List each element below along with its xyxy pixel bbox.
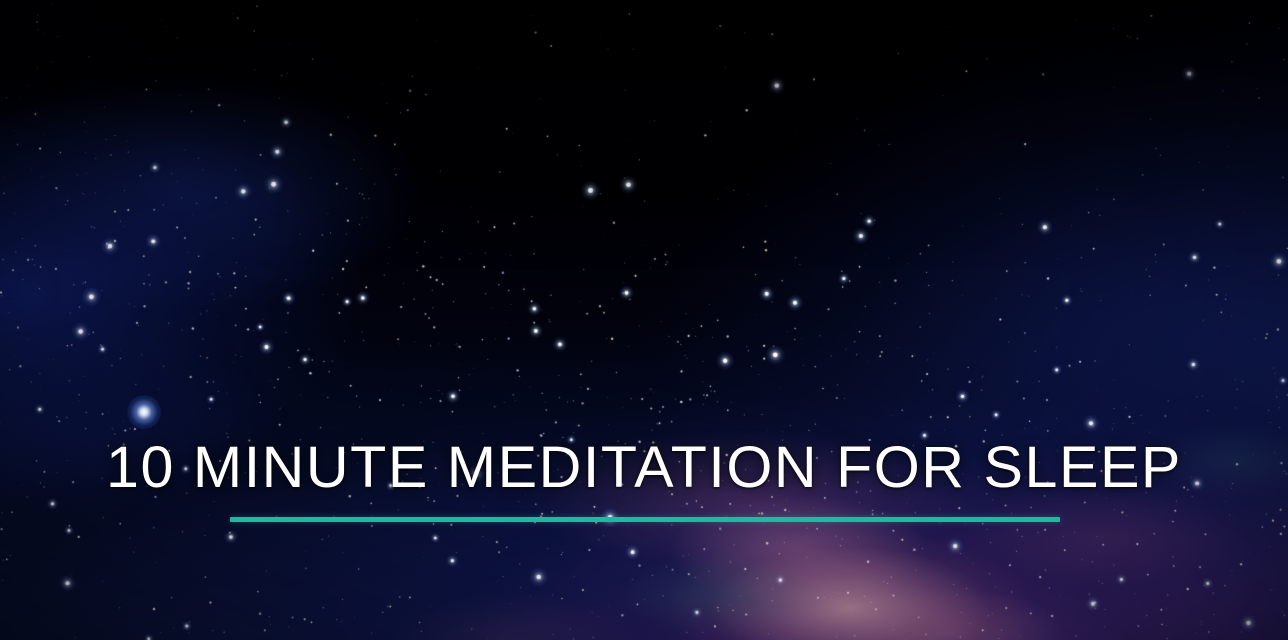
starfield-mid (0, 0, 1288, 640)
sky-purple-nebula-layer (0, 0, 1288, 640)
title-underline-rule (230, 517, 1060, 522)
sky-blue-left-layer (0, 0, 1288, 640)
sky-navy-band-layer (0, 0, 1288, 640)
title-block: 10 MINUTE MEDITATION FOR SLEEP (0, 438, 1288, 522)
page-title: 10 MINUTE MEDITATION FOR SLEEP (0, 438, 1288, 497)
sky-top-darken-layer (0, 0, 1288, 640)
sky-nebula-core-layer (0, 0, 1288, 640)
video-title-card: 10 MINUTE MEDITATION FOR SLEEP (0, 0, 1288, 640)
bright-star-icon (127, 395, 161, 429)
sky-vignette-layer (0, 0, 1288, 640)
starfield-bright (0, 0, 1288, 640)
sky-base-layer (0, 0, 1288, 640)
sky-navy-right-layer (0, 0, 1288, 640)
sky-pink-wisp-layer (0, 0, 1288, 640)
starfield-fine (0, 0, 1288, 640)
sky-teal-wisp-layer (0, 0, 1288, 640)
